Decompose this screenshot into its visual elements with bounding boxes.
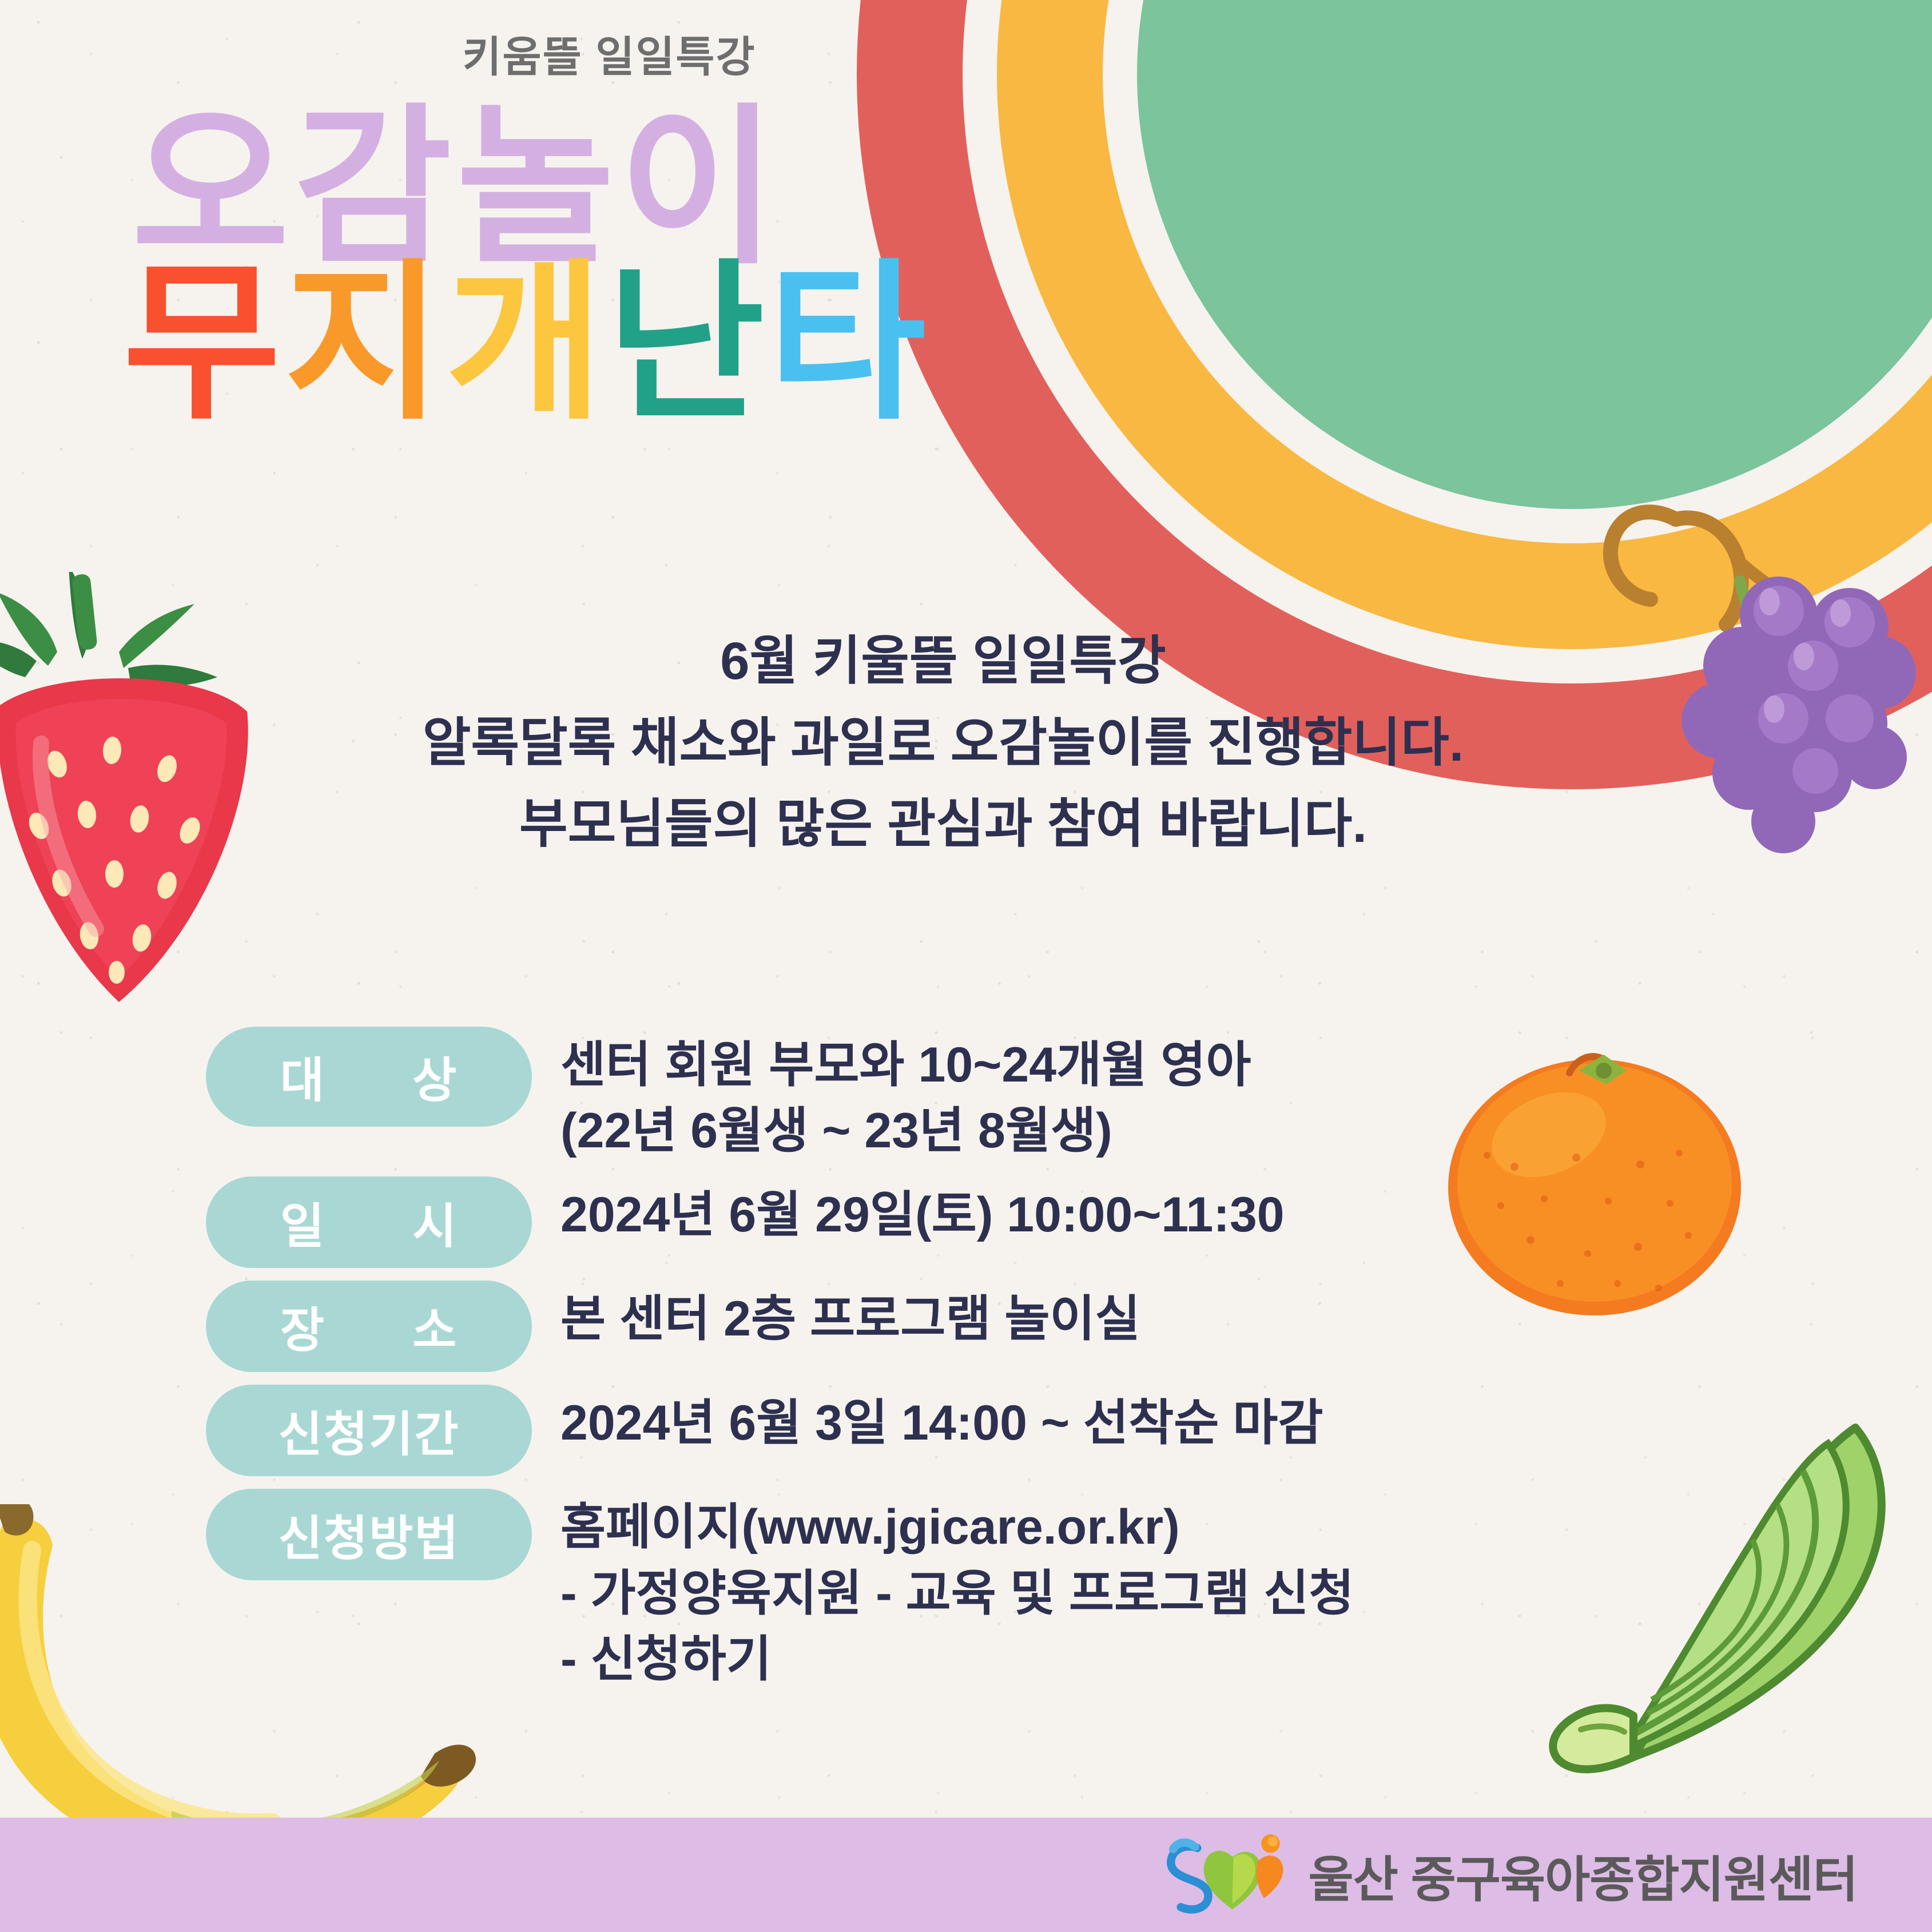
info-value-application-period-line-1: 2024년 6월 3일 14:00 ~ 선착순 마감 bbox=[560, 1390, 1636, 1456]
kicker-text: 키움뜰 일일특강 bbox=[0, 23, 1115, 84]
info-label-target: 대 상 bbox=[206, 1027, 532, 1127]
title-char-gae: 개 bbox=[446, 247, 607, 439]
info-label-datetime: 일 시 bbox=[206, 1176, 532, 1268]
info-row-application-period: 신청기간 2024년 6월 3일 14:00 ~ 선착순 마감 bbox=[206, 1385, 1636, 1476]
description-line-1: 6월 키울뜰 일일특강 bbox=[0, 621, 1886, 702]
header-block: 키움뜰 일일특강 오감놀이 무지개난타 bbox=[0, 23, 1115, 431]
info-value-application-method-line-1: 홈페이지(www.jgicare.or.kr) bbox=[560, 1494, 1636, 1560]
info-value-target: 센터 회원 부모와 10~24개월 영아 (22년 6월생 ~ 23년 8월생) bbox=[532, 1027, 1636, 1164]
title-char-nan: 난 bbox=[607, 247, 768, 439]
info-value-location: 본 센터 2층 프로그램 놀이실 bbox=[532, 1281, 1636, 1352]
info-label-application-method: 신청방법 bbox=[206, 1489, 532, 1580]
footer-organization-name: 울산 중구육아종합지원센터 bbox=[1309, 1839, 1858, 1911]
info-value-datetime: 2024년 6월 29일(토) 10:00~11:30 bbox=[532, 1176, 1636, 1248]
title-line-2: 무지개난타 bbox=[0, 256, 1115, 431]
footer-bar: 울산 중구육아종합지원센터 bbox=[0, 1818, 1932, 1932]
info-label-location: 장 소 bbox=[206, 1281, 532, 1372]
info-value-application-method: 홈페이지(www.jgicare.or.kr) - 가정양육지원 - 교육 및 … bbox=[532, 1489, 1636, 1692]
info-row-datetime: 일 시 2024년 6월 29일(토) 10:00~11:30 bbox=[206, 1176, 1636, 1268]
info-value-application-method-line-2: - 가정양육지원 - 교육 및 프로그램 신청 bbox=[560, 1561, 1636, 1627]
info-value-target-line-1: 센터 회원 부모와 10~24개월 영아 bbox=[560, 1032, 1636, 1098]
info-value-location-line-1: 본 센터 2층 프로그램 놀이실 bbox=[560, 1286, 1636, 1352]
poster-canvas: 키움뜰 일일특강 오감놀이 무지개난타 6월 키울뜰 일일특강 알록달록 채소와… bbox=[0, 0, 1932, 1932]
description-line-3: 부모님들의 많은 관심과 참여 바랍니다. bbox=[0, 784, 1886, 865]
info-value-datetime-line-1: 2024년 6월 29일(토) 10:00~11:30 bbox=[560, 1182, 1636, 1248]
description-paragraph: 6월 키울뜰 일일특강 알록달록 채소와 과일로 오감놀이를 진행합니다. 부모… bbox=[0, 621, 1932, 865]
info-row-location: 장 소 본 센터 2층 프로그램 놀이실 bbox=[206, 1281, 1636, 1372]
info-label-application-period: 신청기간 bbox=[206, 1385, 532, 1476]
center-logo-icon bbox=[1163, 1832, 1289, 1918]
info-value-target-line-2: (22년 6월생 ~ 23년 8월생) bbox=[560, 1098, 1636, 1164]
info-row-target: 대 상 센터 회원 부모와 10~24개월 영아 (22년 6월생 ~ 23년 … bbox=[206, 1027, 1636, 1164]
info-value-application-method-line-3: - 신청하기 bbox=[560, 1627, 1636, 1692]
title-char-ji: 지 bbox=[284, 247, 446, 439]
title-char-ta: 타 bbox=[768, 247, 929, 439]
info-value-application-period: 2024년 6월 3일 14:00 ~ 선착순 마감 bbox=[532, 1385, 1636, 1456]
title-char-mu: 무 bbox=[123, 247, 284, 439]
info-list: 대 상 센터 회원 부모와 10~24개월 영아 (22년 6월생 ~ 23년 … bbox=[206, 1027, 1636, 1705]
description-line-2: 알록달록 채소와 과일로 오감놀이를 진행합니다. bbox=[0, 702, 1886, 784]
info-row-application-method: 신청방법 홈페이지(www.jgicare.or.kr) - 가정양육지원 - … bbox=[206, 1489, 1636, 1692]
